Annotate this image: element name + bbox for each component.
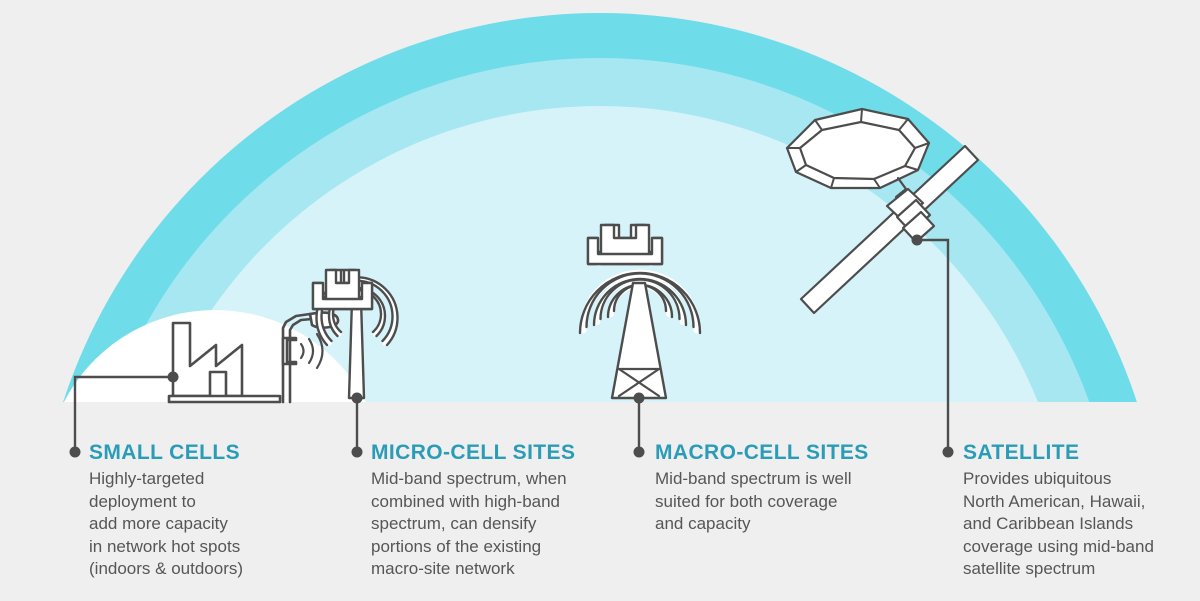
label-title-small-cells: SMALL CELLS <box>89 441 329 465</box>
label-title-satellite: SATELLITE <box>963 441 1200 465</box>
factory-base <box>169 396 280 402</box>
micro-mast <box>349 300 364 398</box>
label-body-micro-cells: Mid-band spectrum, when combined with hi… <box>371 468 621 581</box>
label-body-small-cells: Highly-targeted deployment to add more c… <box>89 468 329 581</box>
label-satellite: SATELLITE Provides ubiquitous North Amer… <box>963 441 1200 581</box>
anchor-dot-satellite <box>912 235 923 246</box>
label-dot-small-cells <box>70 447 81 458</box>
label-body-satellite: Provides ubiquitous North American, Hawa… <box>963 468 1200 581</box>
label-body-macro-cells: Mid-band spectrum is well suited for bot… <box>655 468 905 536</box>
label-small-cells: SMALL CELLS Highly-targeted deployment t… <box>89 441 329 581</box>
anchor-dot-small-cells <box>168 372 179 383</box>
label-title-micro-cells: MICRO-CELL SITES <box>371 441 621 465</box>
label-micro-cells: MICRO-CELL SITES Mid-band spectrum, when… <box>371 441 621 581</box>
anchor-dot-micro-cells <box>352 393 363 404</box>
coverage-infographic: SMALL CELLS Highly-targeted deployment t… <box>0 0 1200 601</box>
anchor-dot-macro-cells <box>634 393 645 404</box>
label-dot-satellite <box>943 447 954 458</box>
label-dot-micro-cells <box>352 447 363 458</box>
label-dot-macro-cells <box>634 447 645 458</box>
label-title-macro-cells: MACRO-CELL SITES <box>655 441 905 465</box>
label-macro-cells: MACRO-CELL SITES Mid-band spectrum is we… <box>655 441 905 536</box>
